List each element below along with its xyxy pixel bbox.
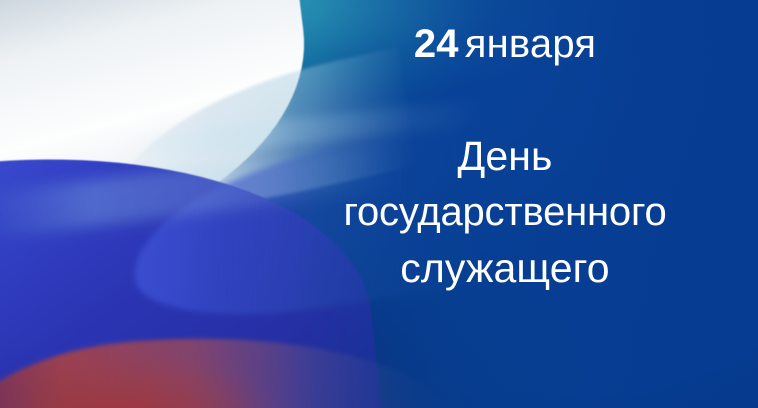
text-column: 24января День государственного служащего	[270, 0, 740, 408]
flag-red-band-core	[25, 336, 304, 408]
date-month: января	[465, 22, 596, 66]
title-block: День государственного служащего	[270, 128, 740, 296]
date-line: 24января	[270, 20, 740, 68]
title-line-1: День	[270, 128, 740, 184]
holiday-banner: 24января День государственного служащего	[0, 0, 758, 408]
date-day: 24	[414, 22, 459, 66]
title-line-3: служащего	[270, 240, 740, 296]
title-line-2: государственного	[270, 184, 740, 240]
